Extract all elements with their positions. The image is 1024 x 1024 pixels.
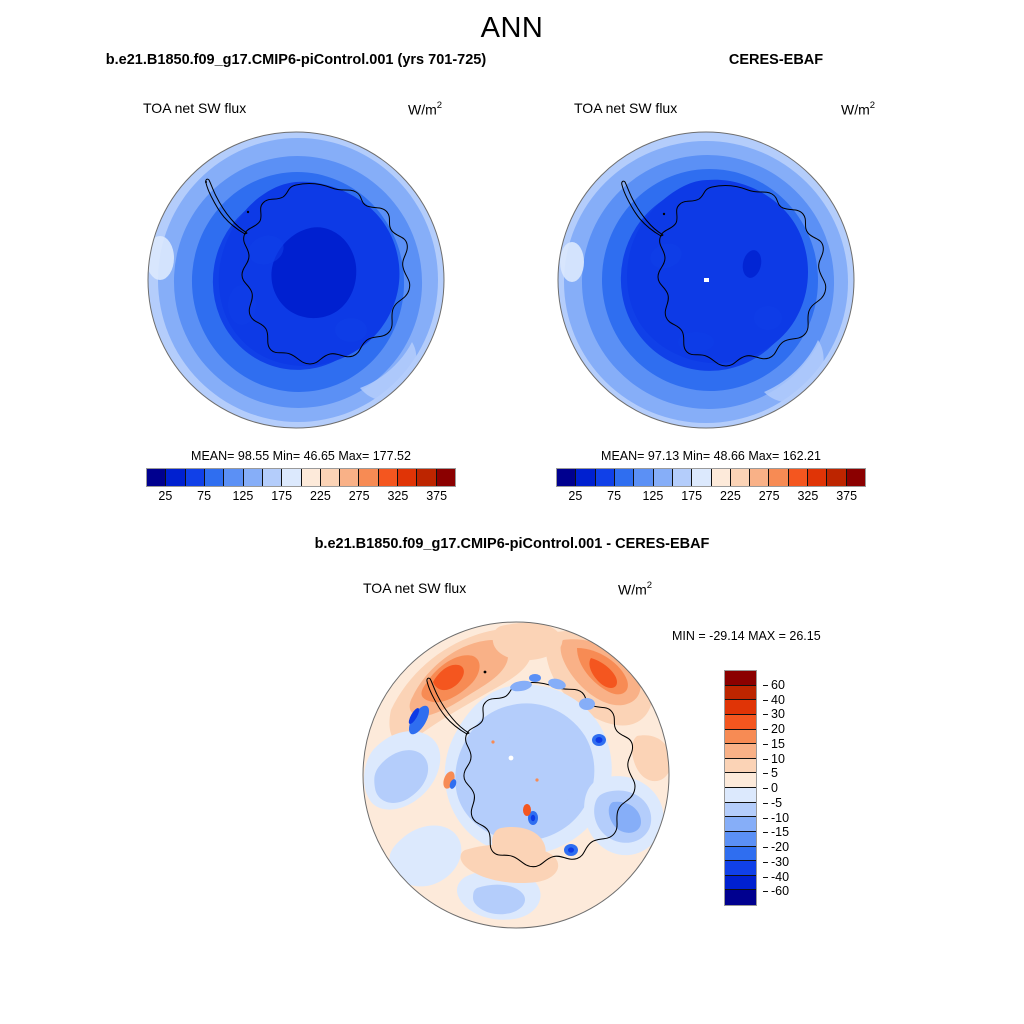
colorbar-tick-label: -40 <box>771 870 789 884</box>
colorbar-tick-label: 75 <box>607 489 621 503</box>
colorbar-tick-label: 125 <box>642 489 663 503</box>
colorbar-segment <box>302 469 321 486</box>
colorbar-tick-label: 75 <box>197 489 211 503</box>
colorbar-tick-label: 325 <box>797 489 818 503</box>
diff-units-label: W/m2 <box>618 580 652 599</box>
colorbar-segment <box>615 469 634 486</box>
colorbar-segment <box>263 469 282 486</box>
colorbar-tick-mark <box>763 759 768 760</box>
colorbar-segment <box>417 469 436 486</box>
colorbar-tick-label: -30 <box>771 855 789 869</box>
right-stats: MEAN= 97.13 Min= 48.66 Max= 162.21 <box>556 449 866 463</box>
colorbar-tick-label: 20 <box>771 722 785 736</box>
colorbar-segment <box>692 469 711 486</box>
colorbar-tick-label: 375 <box>836 489 857 503</box>
colorbar-tick-label: 40 <box>771 693 785 707</box>
diff-colorbar-ticks: 60403020151050-5-10-15-20-30-40-60 <box>763 670 803 906</box>
colorbar-segment <box>725 890 756 905</box>
colorbar-tick-label: 275 <box>759 489 780 503</box>
colorbar-segment <box>398 469 417 486</box>
colorbar-segment <box>725 876 756 891</box>
colorbar-segment <box>725 817 756 832</box>
colorbar-segment <box>712 469 731 486</box>
colorbar-segment <box>750 469 769 486</box>
colorbar-segment <box>673 469 692 486</box>
colorbar-tick-mark <box>763 773 768 774</box>
colorbar-segment <box>596 469 615 486</box>
colorbar-tick-label: -15 <box>771 825 789 839</box>
colorbar-tick-label: 125 <box>232 489 253 503</box>
colorbar-segment <box>725 847 756 862</box>
colorbar-segment <box>725 861 756 876</box>
colorbar-segment <box>186 469 205 486</box>
right-variable-label: TOA net SW flux <box>574 100 677 118</box>
colorbar-segment <box>359 469 378 486</box>
colorbar-segment <box>576 469 595 486</box>
colorbar-segment <box>725 700 756 715</box>
colorbar-tick-label: -60 <box>771 884 789 898</box>
colorbar-segment <box>808 469 827 486</box>
colorbar-tick-mark <box>763 891 768 892</box>
colorbar-segment <box>654 469 673 486</box>
right-polar-map <box>556 130 856 430</box>
colorbar-tick-mark <box>763 803 768 804</box>
colorbar-segment <box>769 469 788 486</box>
colorbar-tick-label: 15 <box>771 737 785 751</box>
colorbar-tick-label: -5 <box>771 796 782 810</box>
colorbar-segment <box>321 469 340 486</box>
diff-variable-label: TOA net SW flux <box>363 580 466 598</box>
colorbar-segment <box>725 686 756 701</box>
left-panel-title: b.e21.B1850.f09_g17.CMIP6-piControl.001 … <box>30 52 562 68</box>
colorbar-tick-mark <box>763 818 768 819</box>
colorbar-segment <box>224 469 243 486</box>
colorbar-tick-label: 275 <box>349 489 370 503</box>
colorbar-segment <box>725 730 756 745</box>
diff-polar-map <box>361 620 671 930</box>
right-colorbar-ticks: 2575125175225275325375 <box>556 487 866 505</box>
colorbar-segment <box>244 469 263 486</box>
colorbar-tick-label: 25 <box>158 489 172 503</box>
south-pole-marker <box>704 278 709 282</box>
colorbar-tick-label: 30 <box>771 707 785 721</box>
colorbar-segment <box>205 469 224 486</box>
colorbar-segment <box>725 803 756 818</box>
colorbar-tick-label: -20 <box>771 840 789 854</box>
colorbar-tick-label: 225 <box>720 489 741 503</box>
diff-panel-title: b.e21.B1850.f09_g17.CMIP6-piControl.001 … <box>0 536 1024 552</box>
colorbar-tick-label: 175 <box>271 489 292 503</box>
colorbar-segment <box>634 469 653 486</box>
colorbar-tick-label: 375 <box>426 489 447 503</box>
colorbar-tick-mark <box>763 714 768 715</box>
colorbar-segment <box>725 788 756 803</box>
diff-colorbar-swatches <box>724 670 757 906</box>
colorbar-tick-label: 225 <box>310 489 331 503</box>
colorbar-segment <box>725 744 756 759</box>
colorbar-segment <box>557 469 576 486</box>
colorbar-segment <box>147 469 166 486</box>
colorbar-segment <box>725 715 756 730</box>
colorbar-tick-mark <box>763 700 768 701</box>
colorbar-segment <box>166 469 185 486</box>
left-colorbar: 2575125175225275325375 <box>146 468 456 505</box>
left-stats: MEAN= 98.55 Min= 46.65 Max= 177.52 <box>146 449 456 463</box>
colorbar-segment <box>789 469 808 486</box>
colorbar-tick-label: 25 <box>568 489 582 503</box>
colorbar-segment <box>731 469 750 486</box>
colorbar-segment <box>725 759 756 774</box>
colorbar-segment <box>827 469 846 486</box>
colorbar-tick-label: 0 <box>771 781 778 795</box>
colorbar-segment <box>725 773 756 788</box>
colorbar-segment <box>340 469 359 486</box>
colorbar-segment <box>725 832 756 847</box>
colorbar-tick-mark <box>763 832 768 833</box>
right-colorbar: 2575125175225275325375 <box>556 468 866 505</box>
figure-title: ANN <box>0 12 1024 45</box>
diff-minmax-label: MIN = -29.14 MAX = 26.15 <box>672 629 821 643</box>
left-units-label: W/m2 <box>408 100 442 119</box>
colorbar-tick-label: 5 <box>771 766 778 780</box>
colorbar-tick-label: -10 <box>771 811 789 825</box>
left-colorbar-swatches <box>146 468 456 487</box>
colorbar-tick-label: 10 <box>771 752 785 766</box>
right-colorbar-swatches <box>556 468 866 487</box>
colorbar-tick-label: 325 <box>387 489 408 503</box>
colorbar-tick-mark <box>763 729 768 730</box>
colorbar-tick-mark <box>763 847 768 848</box>
colorbar-tick-mark <box>763 877 768 878</box>
right-panel-title: CERES-EBAF <box>560 52 992 68</box>
colorbar-segment <box>282 469 301 486</box>
colorbar-segment <box>725 671 756 686</box>
right-units-label: W/m2 <box>841 100 875 119</box>
colorbar-tick-mark <box>763 862 768 863</box>
colorbar-tick-mark <box>763 744 768 745</box>
left-colorbar-ticks: 2575125175225275325375 <box>146 487 456 505</box>
colorbar-segment <box>437 469 455 486</box>
colorbar-tick-label: 60 <box>771 678 785 692</box>
colorbar-tick-mark <box>763 788 768 789</box>
left-variable-label: TOA net SW flux <box>143 100 246 118</box>
colorbar-tick-label: 175 <box>681 489 702 503</box>
colorbar-segment <box>379 469 398 486</box>
left-polar-map <box>146 130 446 430</box>
colorbar-segment <box>847 469 865 486</box>
colorbar-tick-mark <box>763 685 768 686</box>
